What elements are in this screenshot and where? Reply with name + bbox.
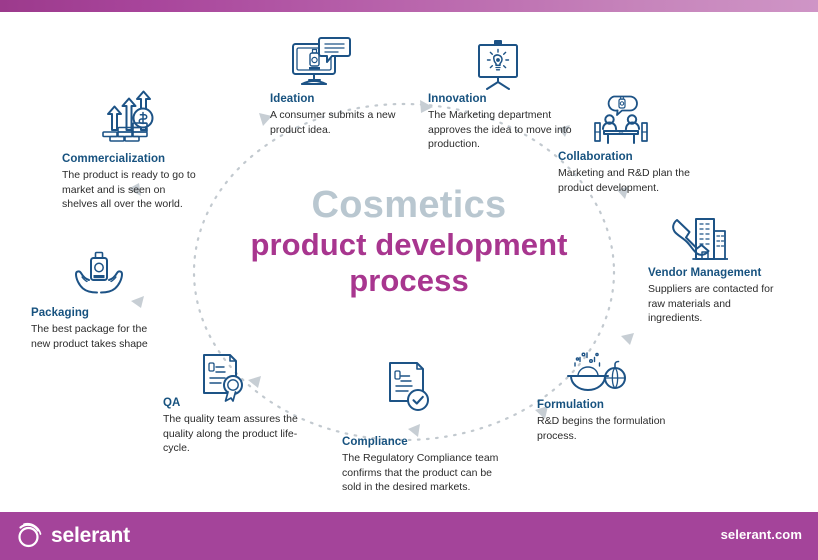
step-ideation-title: Ideation: [270, 92, 410, 106]
step-compliance-title: Compliance: [342, 435, 500, 449]
title-main-lines: product development process: [209, 229, 609, 297]
step-qa-description: The quality team assures the quality alo…: [163, 412, 303, 455]
mixing-bowl-icon: [565, 348, 627, 396]
step-commercialization-title: Commercialization: [62, 152, 202, 166]
step-collaboration-description: Marketing and R&D plan the product devel…: [558, 166, 710, 195]
top-gradient-bar: [0, 0, 818, 12]
presentation-lightbulb-icon: [473, 38, 523, 90]
two-people-meeting-icon: [590, 93, 652, 147]
step-formulation-title: Formulation: [537, 398, 677, 412]
title-top-line: Cosmetics: [209, 186, 609, 225]
step-innovation-description: The Marketing department approves the id…: [428, 108, 578, 151]
footer-bar: selerant selerant.com: [0, 512, 818, 560]
step-collaboration-title: Collaboration: [558, 150, 710, 164]
step-packaging-title: Packaging: [31, 306, 161, 320]
title-main-line-2: process: [209, 265, 609, 297]
step-qa-title: QA: [163, 396, 303, 410]
step-vendor-management: Vendor Management Suppliers are contacte…: [648, 266, 788, 326]
step-packaging-description: The best package for the new product tak…: [31, 322, 161, 351]
step-ideation-description: A consumer submits a new product idea.: [270, 108, 410, 137]
step-collaboration: Collaboration Marketing and R&D plan the…: [558, 150, 710, 195]
footer-website-url[interactable]: selerant.com: [721, 527, 802, 542]
step-innovation-title: Innovation: [428, 92, 578, 106]
phone-buildings-icon: [668, 213, 728, 265]
step-compliance-description: The Regulatory Compliance team confirms …: [342, 451, 500, 494]
hands-holding-product-icon: [70, 250, 128, 300]
title-main-line-1: product development: [250, 227, 567, 262]
step-formulation: Formulation R&D begins the formulation p…: [537, 398, 677, 443]
step-commercialization: Commercialization The product is ready t…: [62, 152, 202, 212]
step-qa: QA The quality team assures the quality …: [163, 396, 303, 456]
monitor-product-chat-icon: [290, 36, 352, 90]
step-vendor-management-title: Vendor Management: [648, 266, 788, 280]
selerant-swirl-icon: [14, 521, 44, 551]
step-formulation-description: R&D begins the formulation process.: [537, 414, 677, 443]
infographic-canvas: Cosmetics product development process: [0, 0, 818, 560]
step-commercialization-description: The product is ready to go to market and…: [62, 168, 202, 211]
brand-logo[interactable]: selerant: [14, 521, 130, 551]
step-vendor-management-description: Suppliers are contacted for raw material…: [648, 282, 788, 325]
page-title: Cosmetics product development process: [209, 186, 609, 297]
step-packaging: Packaging The best package for the new p…: [31, 306, 161, 351]
step-innovation: Innovation The Marketing department appr…: [428, 92, 578, 152]
step-compliance: Compliance The Regulatory Compliance tea…: [342, 435, 500, 495]
brand-name: selerant: [51, 521, 130, 551]
growth-arrows-coins-icon: [98, 88, 160, 146]
step-ideation: Ideation A consumer submits a new produc…: [270, 92, 410, 137]
document-check-icon: [385, 360, 433, 414]
